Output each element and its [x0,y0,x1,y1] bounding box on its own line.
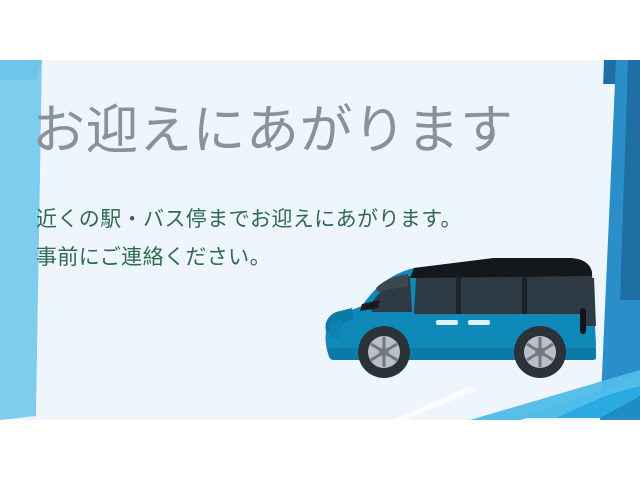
car-front-wheel [358,326,410,378]
minivan-illustration [318,248,608,398]
car-b-pillar [456,276,461,314]
car-rear-wheel [514,326,566,378]
page-title: お迎えにあがります [32,100,514,162]
car-rear-glass [414,276,594,314]
subtitle-line-1: 近くの駅・バス停までお迎えにあがります。 [36,205,462,235]
car-door-handle-front [436,320,458,325]
promo-banner: お迎えにあがります 近くの駅・バス停までお迎えにあがります。 事前にご連絡くださ… [0,0,640,480]
car-roof [410,258,592,278]
car-c-pillar [522,276,527,314]
banner-content: お迎えにあがります 近くの駅・バス停までお迎えにあがります。 事前にご連絡くださ… [0,0,640,480]
subtitle-line-2: 事前にご連絡ください。 [36,243,271,273]
car-door-handle-rear [468,320,490,325]
car-rear-pillar-trim [580,308,586,334]
